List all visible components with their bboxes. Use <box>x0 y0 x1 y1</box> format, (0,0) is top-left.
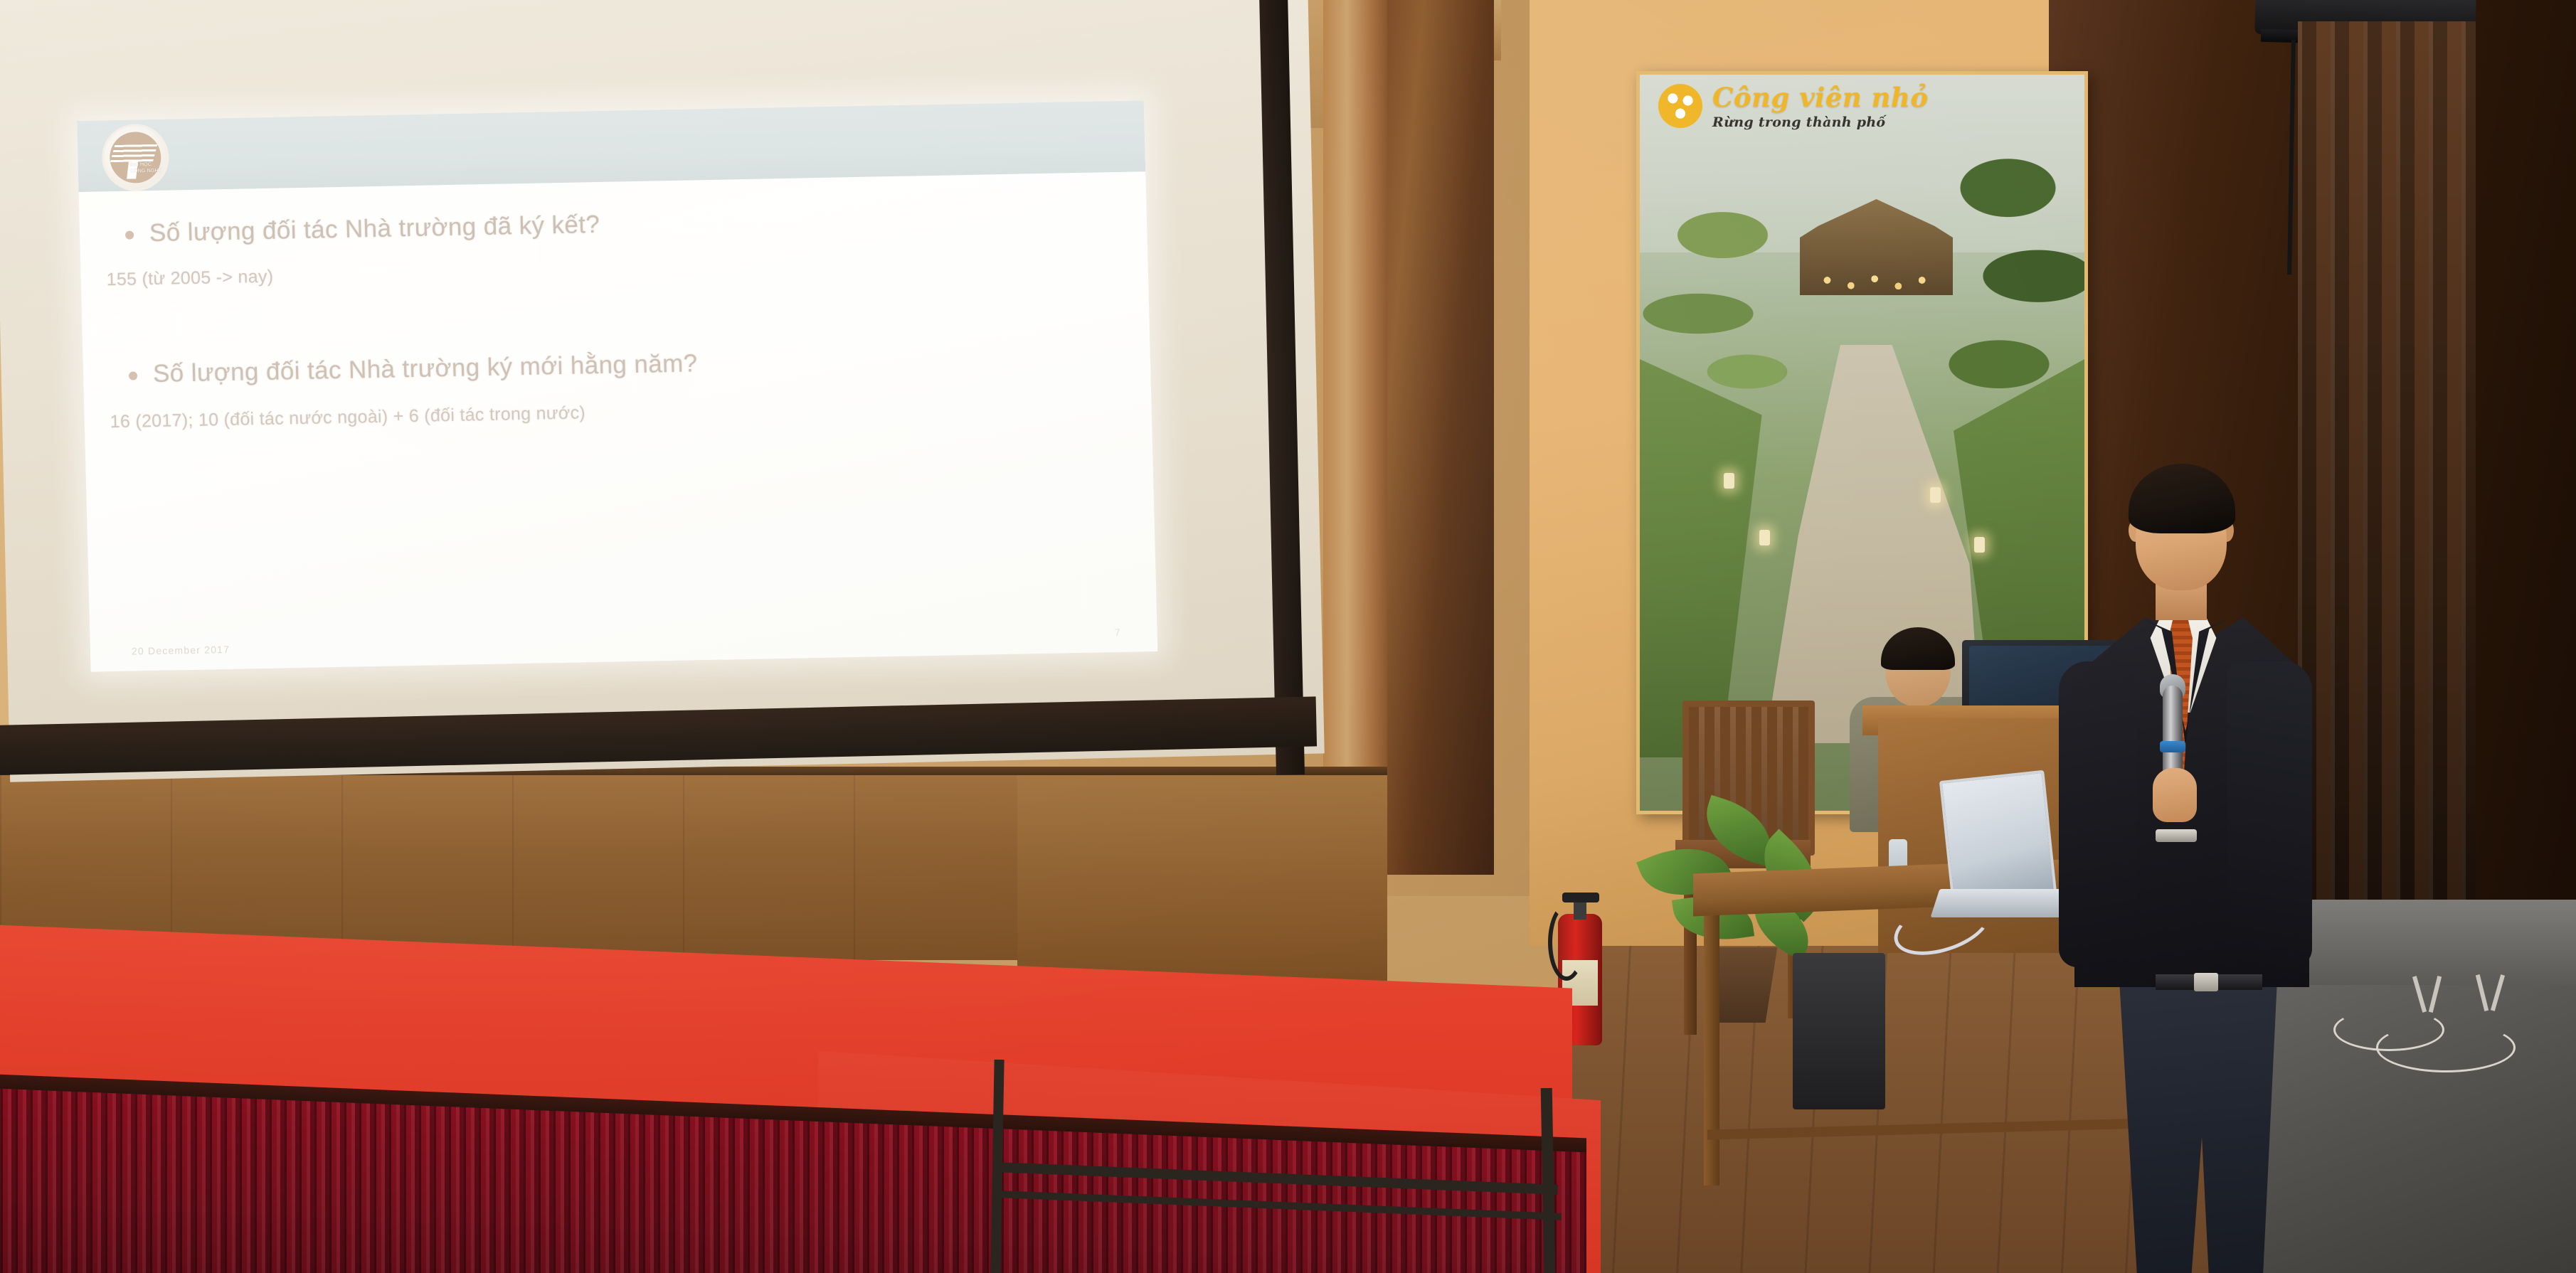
poster-tagline: Rừng trong thành phố <box>1712 114 1929 130</box>
bullet-2-answer: 16 (2017); 10 (đối tác nước ngoài) + 6 (… <box>110 403 585 432</box>
projected-slide: ĐẠI HỌC CÔNG NGHỆ Số lượng đối tác Nhà t… <box>77 100 1157 672</box>
poster-lamp-icon <box>1759 530 1770 545</box>
poster-title: Công viên nhỏ <box>1712 82 1929 113</box>
microphone-ring <box>2160 741 2185 752</box>
presenter-watch <box>2156 829 2197 842</box>
bullet-dot-icon <box>129 371 137 380</box>
poster-lamp-icon <box>1724 473 1734 489</box>
slide-page-number: 7 <box>1115 627 1120 638</box>
poster-lanterns <box>1814 267 1946 294</box>
slide-body: Số lượng đối tác Nhà trường đã ký kết? 1… <box>79 171 1158 672</box>
poster-lamp-icon <box>1974 537 1985 553</box>
table-leg <box>1704 898 1719 1186</box>
seated-attendee-hair <box>1881 627 1955 670</box>
presenter-hand <box>2153 768 2197 822</box>
poster-lamp-icon <box>1930 487 1941 503</box>
presentation-room-scene: ĐẠI HỌC CÔNG NGHỆ Số lượng đối tác Nhà t… <box>0 0 2576 1273</box>
presenter-hair <box>2129 464 2235 533</box>
three-leaf-circular-mark-icon <box>1658 84 1702 128</box>
cable-loop <box>2376 1023 2516 1072</box>
logo-text-line2: CÔNG NGHỆ <box>130 168 163 175</box>
bullet-1-answer: 155 (từ 2005 -> nay) <box>106 267 273 290</box>
presenter-belt-buckle <box>2194 973 2218 991</box>
presenter-right-arm <box>2059 661 2137 967</box>
slide-bullet-2: Số lượng đối tác Nhà trường ký mới hằng … <box>128 340 1111 390</box>
presenter-left-arm <box>2227 661 2312 967</box>
wood-wainscot-right <box>1017 775 1387 981</box>
wood-beam-light <box>1323 0 1391 846</box>
presenter-legs <box>2109 981 2288 1273</box>
poster-branding: Công viên nhỏ Rừng trong thành phố <box>1658 82 1929 130</box>
bullet-2-text: Số lượng đối tác Nhà trường ký mới hằng … <box>152 348 698 389</box>
uet-vnu-circular-logo: ĐẠI HỌC CÔNG NGHỆ <box>101 124 169 192</box>
coiled-microphone-cables <box>2333 996 2547 1081</box>
bullet-dot-icon <box>125 230 134 239</box>
presenter-with-microphone <box>2049 448 2348 1273</box>
slide-footer-date: 20 December 2017 <box>132 644 230 657</box>
waste-bin <box>1793 953 1885 1109</box>
wood-beam-dark <box>1387 0 1494 875</box>
slide-bullet-1: Số lượng đối tác Nhà trường đã ký kết? <box>124 199 1107 249</box>
bullet-1-text: Số lượng đối tác Nhà trường đã ký kết? <box>149 209 600 249</box>
extinguisher-handle <box>1562 893 1599 902</box>
